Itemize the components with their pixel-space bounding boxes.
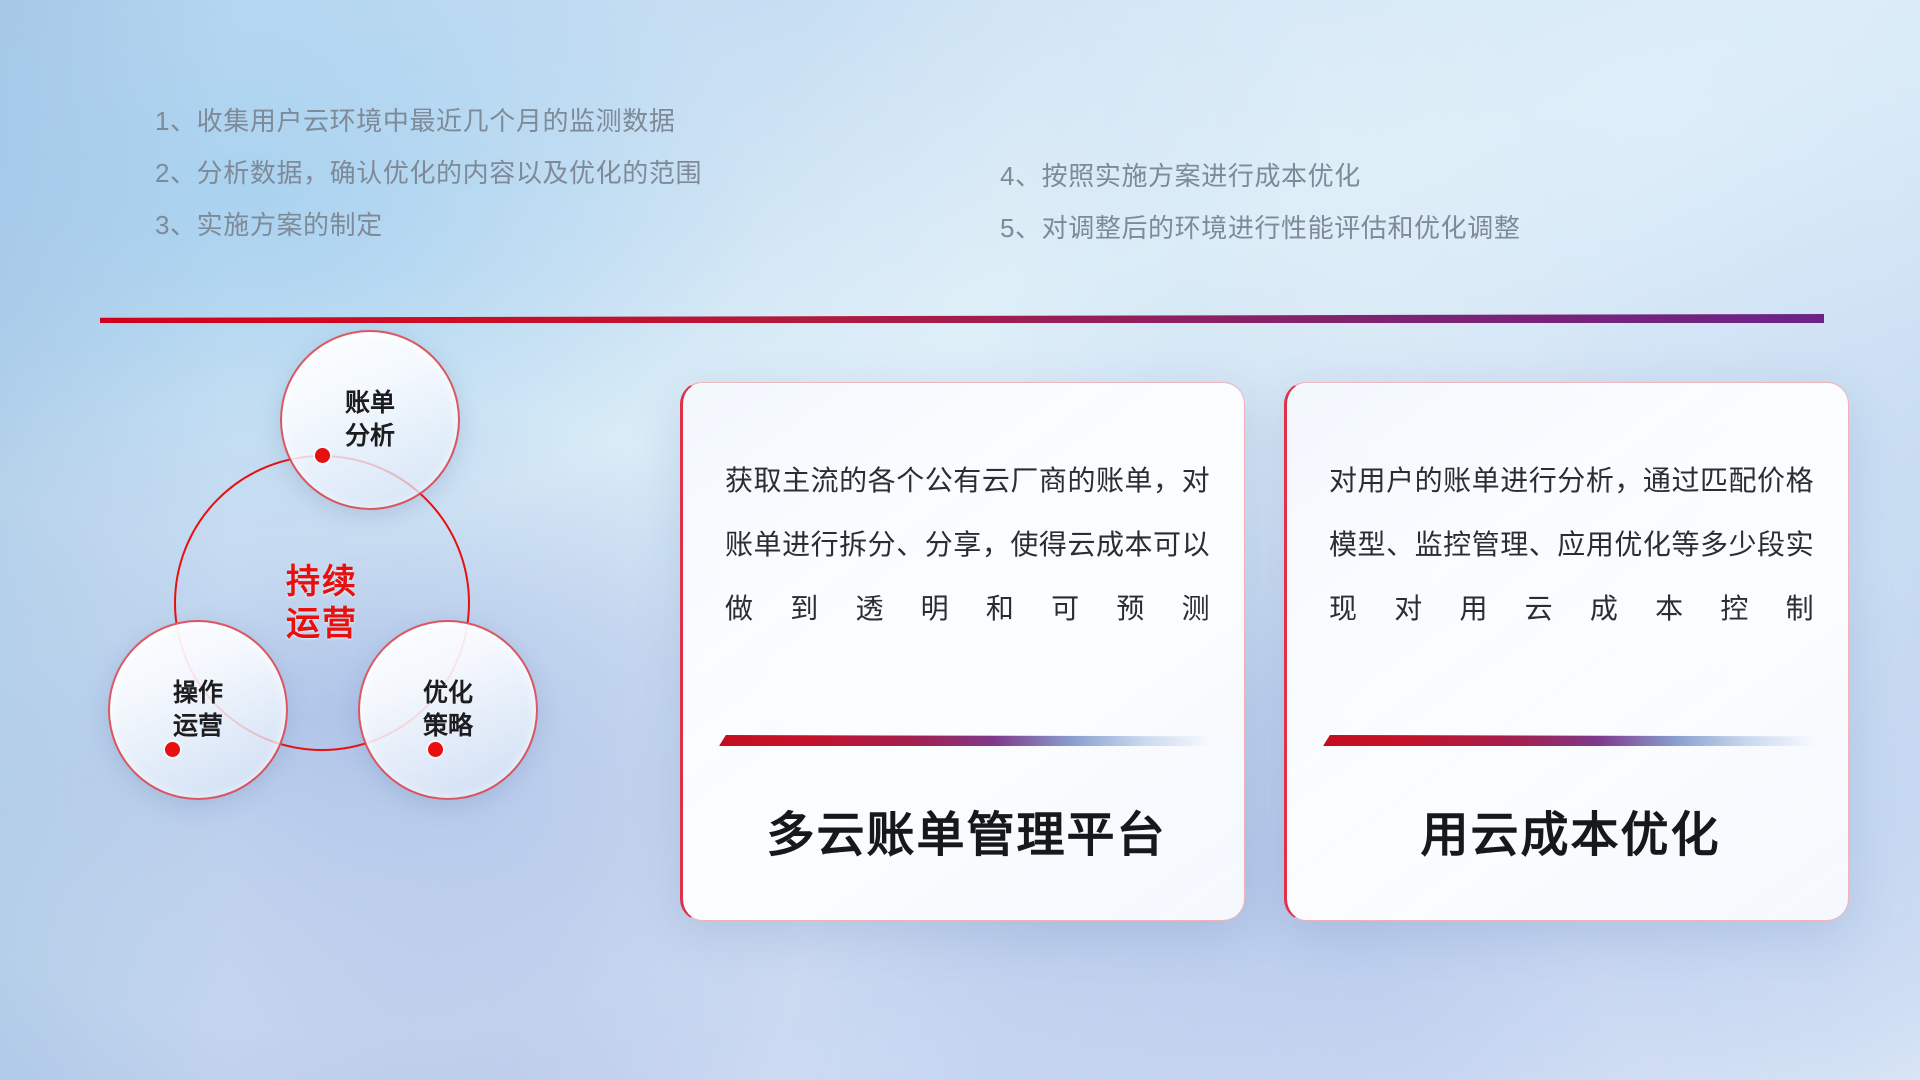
feature-card-divider [1323, 735, 1815, 746]
step-list-right: 4、按照实施方案进行成本优化 5、对调整后的环境进行性能评估和优化调整 [1000, 150, 1520, 254]
header-divider-rule [100, 314, 1824, 323]
venn-node-dot-left [165, 742, 180, 757]
feature-card-billing-platform[interactable]: 获取主流的各个公有云厂商的账单，对账单进行拆分、分享，使得云成本可以做到透明和可… [680, 382, 1245, 921]
venn-diagram: 账单 分析 操作 运营 优化 策略 持续 运营 [80, 330, 600, 950]
feature-card-title: 多云账单管理平台 [719, 795, 1214, 865]
step-item-3: 3、实施方案的制定 [155, 199, 702, 251]
venn-center-label-line1: 持续 [286, 561, 358, 604]
feature-card-divider [719, 735, 1211, 746]
step-item-4: 4、按照实施方案进行成本优化 [1000, 150, 1520, 202]
feature-card-body: 获取主流的各个公有云厂商的账单，对账单进行拆分、分享，使得云成本可以做到透明和可… [725, 449, 1210, 641]
venn-bubble-label-line1: 账单 [345, 387, 395, 420]
venn-node-dot-top [315, 448, 330, 463]
venn-node-dot-right [428, 742, 443, 757]
step-list-left: 1、收集用户云环境中最近几个月的监测数据 2、分析数据，确认优化的内容以及优化的… [155, 95, 702, 251]
feature-card-body: 对用户的账单进行分析，通过匹配价格模型、监控管理、应用优化等多少段实现对用云成本… [1329, 449, 1814, 641]
feature-card-title: 用云成本优化 [1323, 795, 1818, 865]
slide-canvas: 1、收集用户云环境中最近几个月的监测数据 2、分析数据，确认优化的内容以及优化的… [0, 0, 1920, 1080]
venn-bubble-label-line2: 分析 [345, 420, 395, 453]
header-divider-shape [100, 314, 1824, 323]
venn-center-label-line2: 运营 [286, 603, 358, 646]
step-item-5: 5、对调整后的环境进行性能评估和优化调整 [1000, 202, 1520, 254]
feature-card-cost-optimization[interactable]: 对用户的账单进行分析，通过匹配价格模型、监控管理、应用优化等多少段实现对用云成本… [1284, 382, 1849, 921]
step-item-2: 2、分析数据，确认优化的内容以及优化的范围 [155, 147, 702, 199]
step-item-1: 1、收集用户云环境中最近几个月的监测数据 [155, 95, 702, 147]
venn-center-label: 持续 运营 [174, 455, 470, 751]
